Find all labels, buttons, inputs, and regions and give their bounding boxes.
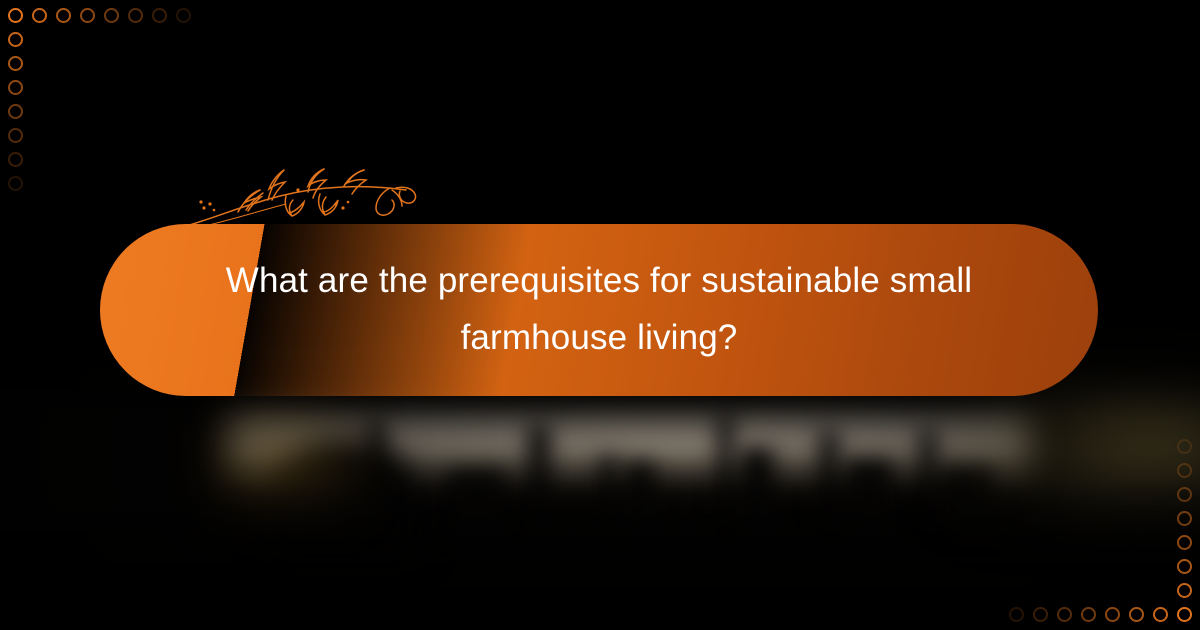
ornament-dot bbox=[8, 152, 23, 167]
ornament-dot bbox=[8, 128, 23, 143]
ornament-dot bbox=[104, 8, 119, 23]
headline-pill: What are the prerequisites for sustainab… bbox=[100, 224, 1098, 396]
background-post bbox=[820, 430, 838, 522]
ornament-dot bbox=[1177, 439, 1192, 454]
background-post bbox=[718, 412, 733, 516]
background-post bbox=[625, 462, 655, 532]
ornament-dot bbox=[32, 8, 47, 23]
ornament-dot bbox=[1153, 607, 1168, 622]
ornament-dot bbox=[1057, 607, 1072, 622]
ornament-dot bbox=[1129, 607, 1144, 622]
ornament-dot bbox=[8, 32, 23, 47]
ornament-dot bbox=[8, 104, 23, 119]
corner-dots-bottom-right bbox=[1000, 430, 1200, 630]
ornament-dot bbox=[8, 80, 23, 95]
ornament-dot bbox=[1177, 487, 1192, 502]
background-post bbox=[446, 470, 506, 532]
background-silhouette bbox=[268, 438, 418, 558]
ornament-dot bbox=[1177, 511, 1192, 526]
background-post bbox=[600, 455, 616, 529]
ornament-dot bbox=[128, 8, 143, 23]
ornament-dot bbox=[176, 8, 191, 23]
ornament-dot bbox=[1105, 607, 1120, 622]
background-light-band bbox=[230, 408, 1030, 486]
ornament-dot bbox=[1177, 535, 1192, 550]
ornament-dot bbox=[152, 8, 167, 23]
background-post bbox=[845, 460, 893, 530]
ornament-dot bbox=[1177, 583, 1192, 598]
ornament-dot bbox=[1177, 463, 1192, 478]
ornament-dot bbox=[1177, 559, 1192, 574]
ornament-dot bbox=[8, 8, 23, 23]
social-card: What are the prerequisites for sustainab… bbox=[0, 0, 1200, 630]
background-post bbox=[528, 424, 550, 520]
ornament-dot bbox=[1033, 607, 1048, 622]
ornament-dot bbox=[8, 176, 23, 191]
page-title: What are the prerequisites for sustainab… bbox=[133, 253, 1065, 366]
ornament-dot bbox=[80, 8, 95, 23]
ornament-dot bbox=[1081, 607, 1096, 622]
background-post bbox=[740, 448, 774, 528]
background-post bbox=[368, 418, 384, 514]
ornament-dot bbox=[1177, 607, 1192, 622]
background-post bbox=[940, 468, 994, 532]
ornament-dot bbox=[8, 56, 23, 71]
background-post bbox=[920, 428, 936, 524]
ornament-dot bbox=[56, 8, 71, 23]
ornament-dot bbox=[1009, 607, 1024, 622]
background-glow-left bbox=[210, 405, 370, 525]
